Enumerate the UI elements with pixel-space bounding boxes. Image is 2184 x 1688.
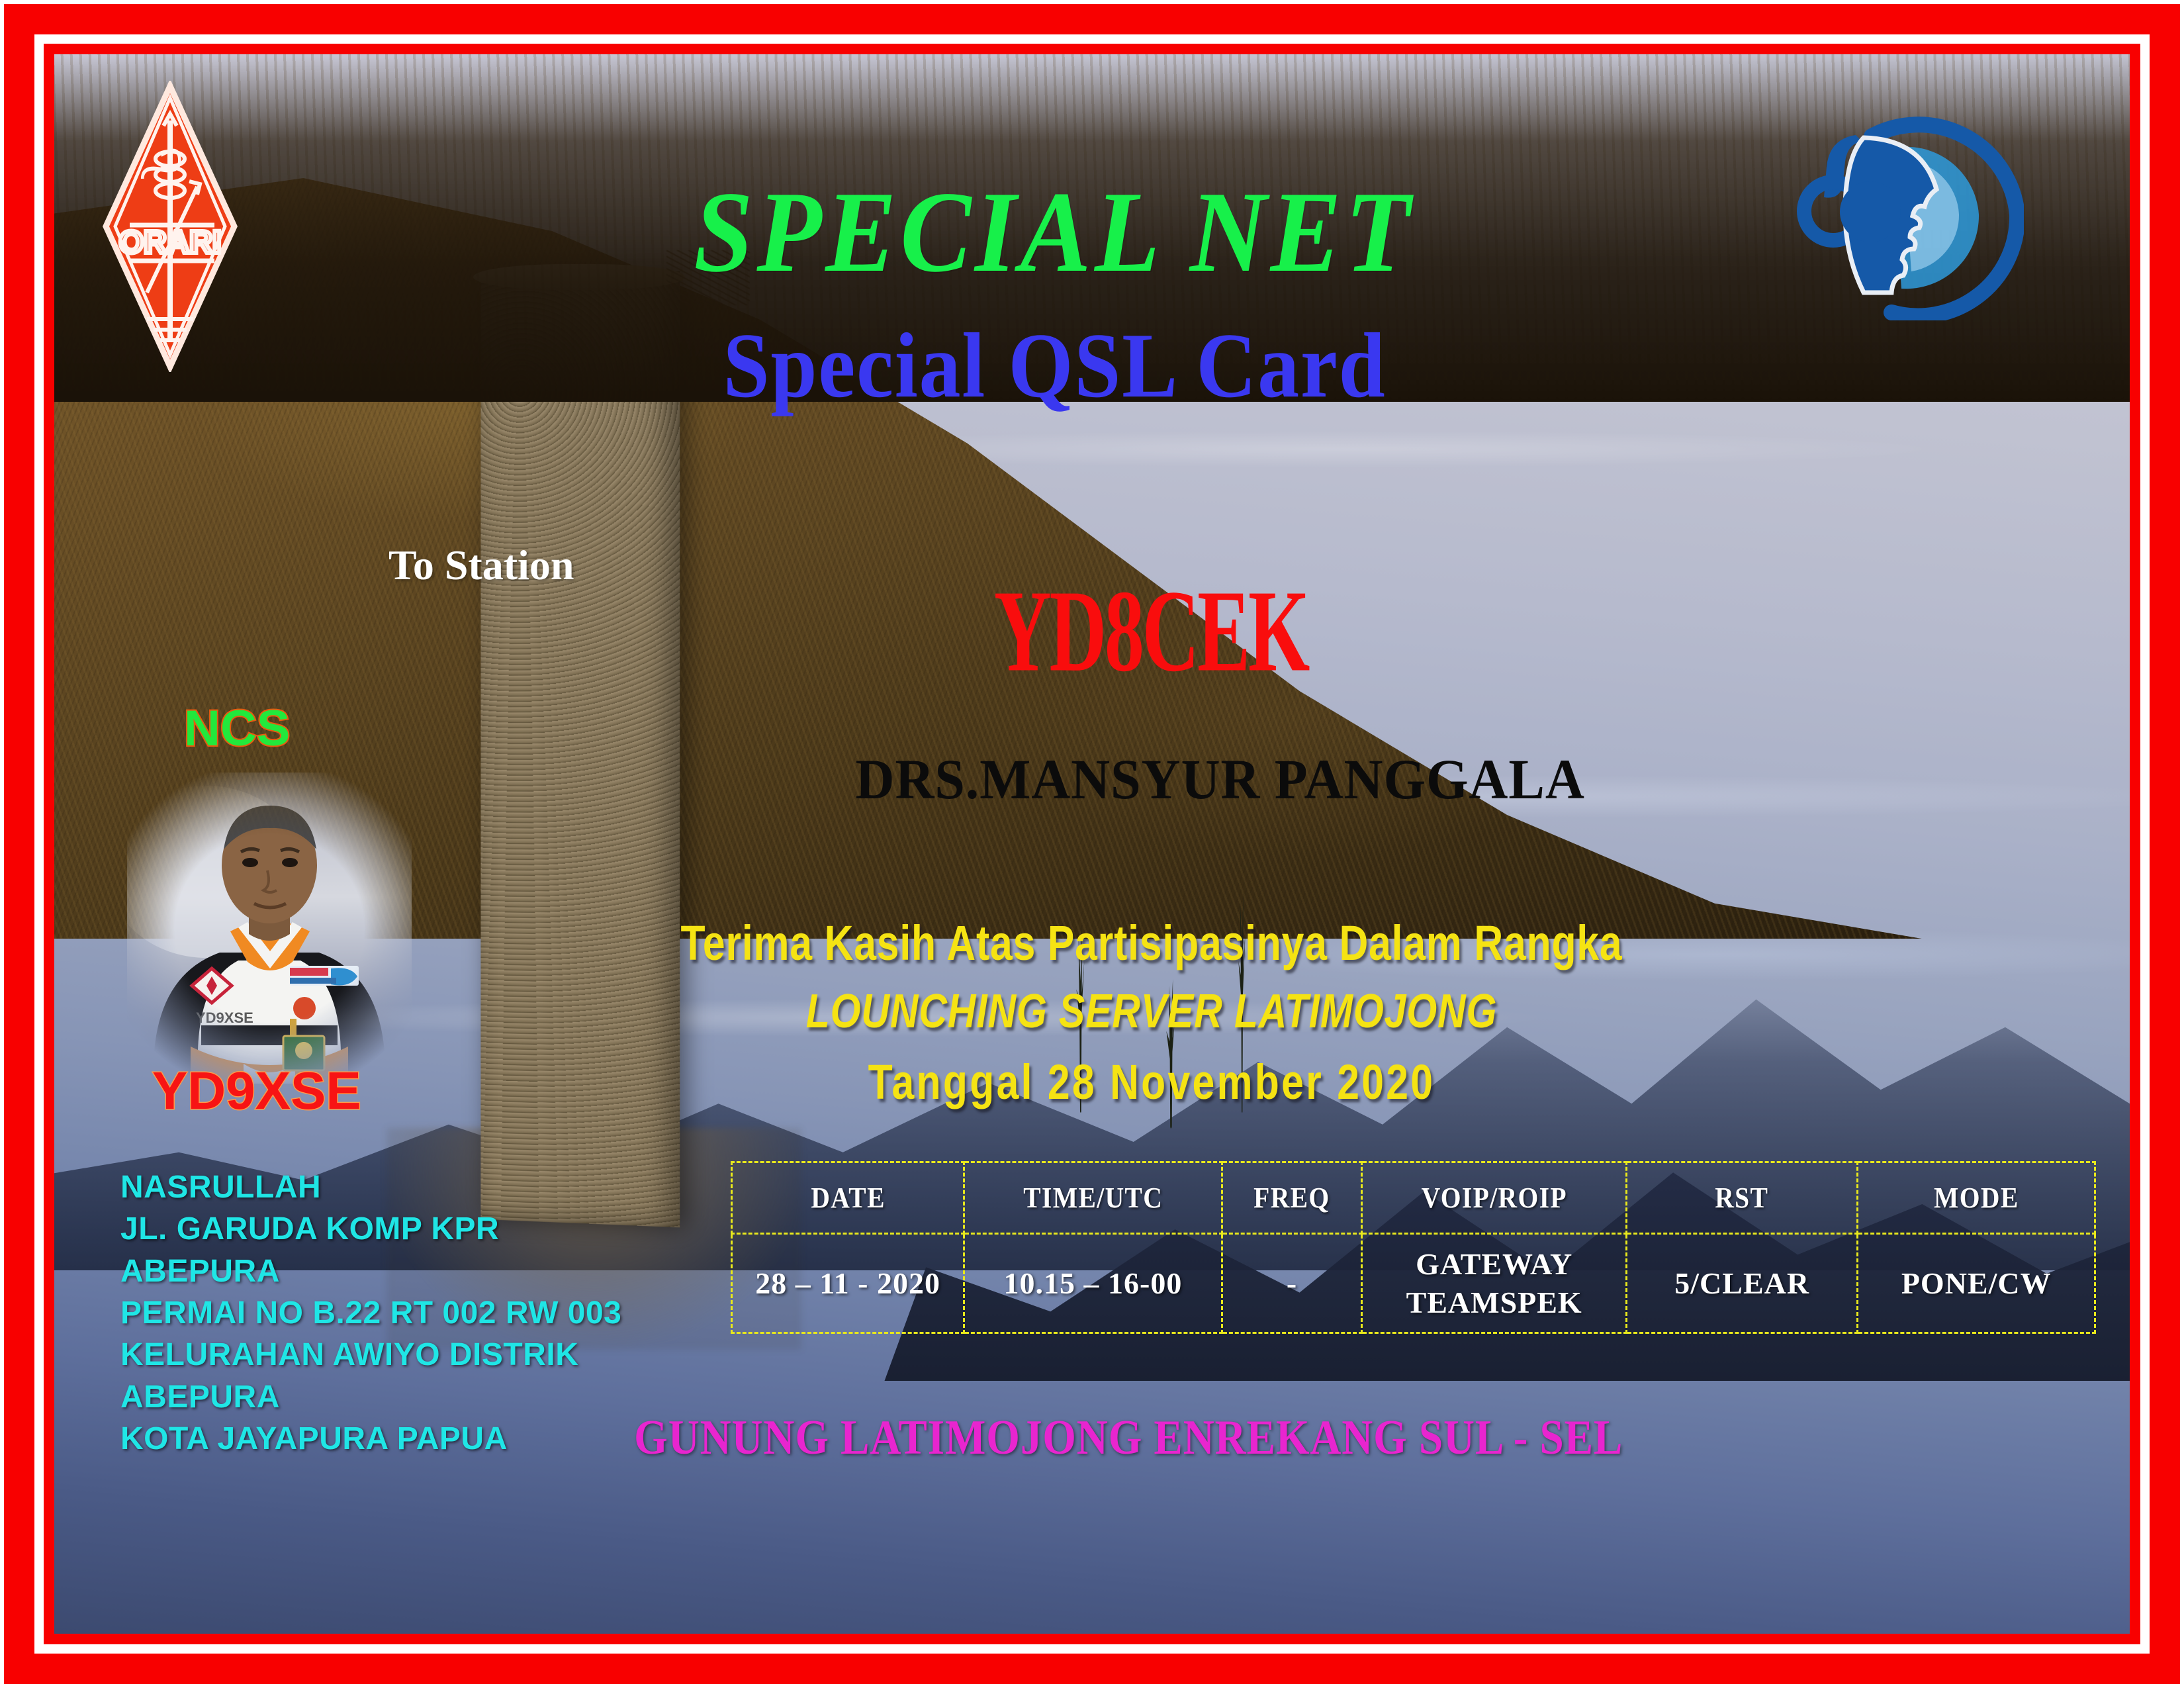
- address-line: PERMAI NO B.22 RT 002 RW 003: [120, 1292, 621, 1334]
- cell-date: 28 – 11 - 2020: [732, 1234, 964, 1333]
- table-header-row: DATE TIME/UTC FREQ VOIP/ROIP RST MODE: [732, 1162, 2095, 1234]
- page-subtitle: Special QSL Card: [120, 312, 1988, 419]
- table-header-voip: VOIP/ROIP: [1375, 1162, 1614, 1234]
- address-line: NASRULLAH: [120, 1166, 621, 1208]
- cell-voip: GATEWAY TEAMSPEK: [1362, 1234, 1627, 1333]
- background-photograph: ORARI SPECIAL NET Special QSL Card To St…: [54, 54, 2130, 1634]
- table-header-rst: RST: [1638, 1162, 1846, 1234]
- table-header-freq: FREQ: [1229, 1162, 1355, 1234]
- address-line: KELURAHAN AWIYO DISTRIK: [120, 1334, 621, 1376]
- to-station-label: To Station: [388, 541, 574, 590]
- event-name: LOUNCHING SERVER LATIMOJONG: [300, 984, 2003, 1039]
- qsl-card: ORARI SPECIAL NET Special QSL Card To St…: [0, 0, 2184, 1688]
- event-date: Tanggal 28 November 2020: [300, 1054, 2003, 1110]
- page-title: SPECIAL NET: [99, 165, 2009, 299]
- address-line: JL. GARUDA KOMP KPR: [120, 1208, 621, 1250]
- table-header-date: DATE: [743, 1162, 952, 1234]
- address-line: ABEPURA: [120, 1250, 621, 1292]
- table-header-time: TIME/UTC: [977, 1162, 1209, 1234]
- location-text: GUNUNG LATIMOJONG ENREKANG SUL - SEL: [215, 1410, 2042, 1466]
- table-row: 28 – 11 - 2020 10.15 – 16-00 - GATEWAY T…: [732, 1234, 2095, 1333]
- table-header-mode: MODE: [1870, 1162, 2083, 1234]
- ncs-label: NCS: [184, 700, 290, 757]
- ncs-operator-photo: YD9XSE: [127, 773, 412, 1084]
- cell-rst: 5/CLEAR: [1626, 1234, 1858, 1333]
- cell-freq: -: [1222, 1234, 1362, 1333]
- cell-time: 10.15 – 16-00: [964, 1234, 1222, 1333]
- ncs-callsign: YD9XSE: [152, 1060, 361, 1121]
- cell-mode: PONE/CW: [1858, 1234, 2095, 1333]
- qso-table: DATE TIME/UTC FREQ VOIP/ROIP RST MODE 28…: [731, 1161, 2096, 1334]
- uniform-callsign-patch: YD9XSE: [196, 1009, 253, 1026]
- thanks-message: Terima Kasih Atas Partisipasinya Dalam R…: [300, 915, 2003, 971]
- station-callsign: YD8CEK: [994, 564, 1308, 698]
- operator-name: DRS.MANSYUR PANGGALA: [234, 746, 2130, 812]
